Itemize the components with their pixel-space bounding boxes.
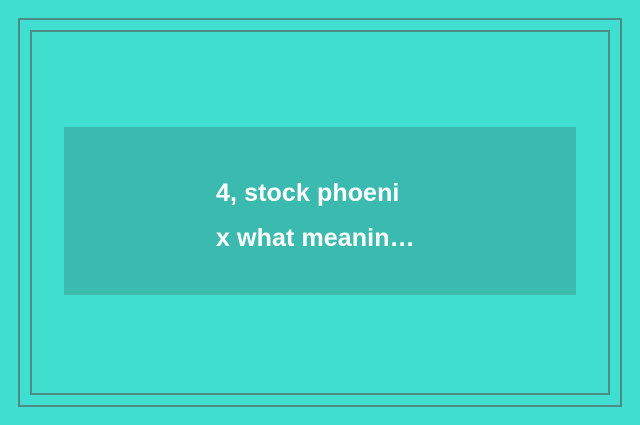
caption-line-2: x what meanin…: [216, 216, 556, 261]
caption-panel: 4, stock phoeni x what meanin…: [64, 127, 576, 295]
caption-text-block: 4, stock phoeni x what meanin…: [216, 171, 556, 261]
caption-line-1: 4, stock phoeni: [216, 171, 556, 216]
image-placeholder-card: 4, stock phoeni x what meanin…: [0, 0, 640, 425]
